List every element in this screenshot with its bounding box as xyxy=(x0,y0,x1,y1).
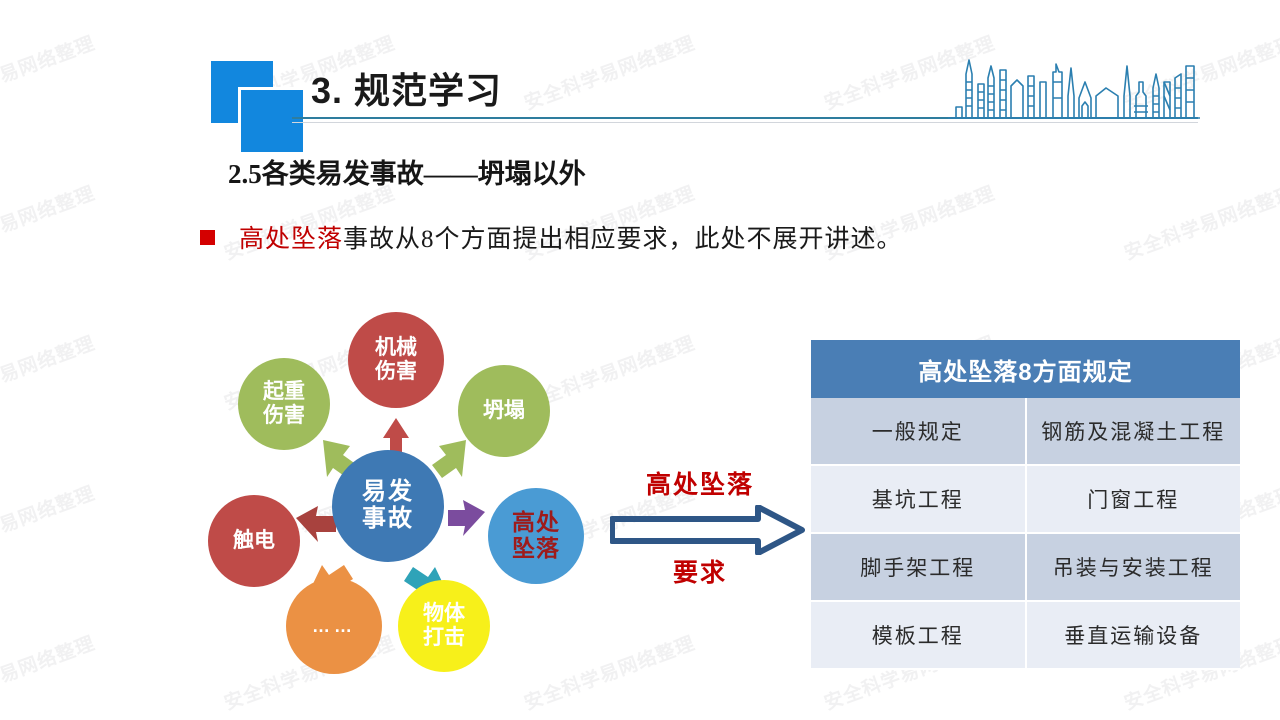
arrow-upper-right-icon xyxy=(432,440,466,478)
right-arrow-icon xyxy=(610,505,805,555)
watermark-text: 安全科学易网络整理 xyxy=(0,178,98,265)
table-cell-left: 一般规定 xyxy=(811,398,1026,465)
diagram-node-object-strike[interactable]: 物体 打击 xyxy=(398,580,490,672)
table-cell-left: 基坑工程 xyxy=(811,465,1026,533)
arrow-left-icon xyxy=(296,506,336,542)
table-cell-left: 脚手架工程 xyxy=(811,533,1026,601)
watermark-text: 安全科学易网络整理 xyxy=(1120,178,1280,265)
table-row: 脚手架工程 吊装与安装工程 xyxy=(811,533,1240,601)
table-row: 基坑工程 门窗工程 xyxy=(811,465,1240,533)
arrow-right-icon xyxy=(448,500,485,536)
table-row: 模板工程 垂直运输设备 xyxy=(811,601,1240,669)
table-cell-right: 钢筋及混凝土工程 xyxy=(1026,398,1241,465)
center-line-2: 事故 xyxy=(362,505,414,532)
accident-types-diagram: 易发 事故 机械 伤害 起重 伤害 坍塌 触电 高处 坠落 …… 物体 打击 xyxy=(200,290,620,680)
node-line-2: 坠落 xyxy=(512,535,560,561)
node-line-1: 坍塌 xyxy=(483,399,525,423)
bullet-row: 高处坠落事故从8个方面提出相应要求，此处不展开讲述。 xyxy=(200,219,903,255)
table-cell-right: 吊装与安装工程 xyxy=(1026,533,1241,601)
table-header-cell: 高处坠落8方面规定 xyxy=(811,340,1240,398)
process-arrow-top-label: 高处坠落 xyxy=(600,465,800,501)
bullet-highlight: 高处坠落 xyxy=(239,226,343,253)
logo-square-front xyxy=(238,87,303,152)
diagram-node-electric-shock[interactable]: 触电 xyxy=(208,495,300,587)
table-row: 一般规定 钢筋及混凝土工程 xyxy=(811,398,1240,465)
bullet-rest: 事故从8个方面提出相应要求，此处不展开讲述。 xyxy=(343,226,903,253)
node-line-1: 起重 xyxy=(263,380,305,403)
title-divider-secondary xyxy=(292,122,1198,123)
node-line-1: …… xyxy=(312,616,356,636)
table-cell-right: 门窗工程 xyxy=(1026,465,1241,533)
table-header-row: 高处坠落8方面规定 xyxy=(811,340,1240,398)
node-line-1: 机械 xyxy=(375,336,417,359)
node-line-2: 打击 xyxy=(423,626,465,649)
diagram-node-center[interactable]: 易发 事故 xyxy=(332,450,444,562)
diagram-node-mechanical-injury[interactable]: 机械 伤害 xyxy=(348,312,444,408)
node-line-2: 伤害 xyxy=(375,360,417,383)
slide-header: 3. 规范学习 xyxy=(0,0,1280,150)
node-line-1: 高处 xyxy=(512,509,560,535)
page-title: 3. 规范学习 xyxy=(311,62,502,114)
requirements-table: 高处坠落8方面规定 一般规定 钢筋及混凝土工程 基坑工程 门窗工程 脚手架工程 … xyxy=(811,340,1240,655)
table-cell-right: 垂直运输设备 xyxy=(1026,601,1241,669)
city-skyline-icon xyxy=(948,52,1200,122)
bullet-marker-icon xyxy=(200,230,215,245)
watermark-text: 安全科学易网络整理 xyxy=(0,478,98,565)
bullet-text: 高处坠落事故从8个方面提出相应要求，此处不展开讲述。 xyxy=(239,219,903,255)
process-arrow-bottom-label: 要求 xyxy=(600,553,800,589)
diagram-node-collapse[interactable]: 坍塌 xyxy=(458,365,550,457)
watermark-text: 安全科学易网络整理 xyxy=(0,628,98,715)
center-line-1: 易发 xyxy=(362,478,414,505)
process-arrow-group: 高处坠落 要求 xyxy=(600,465,810,595)
diagram-node-fall-from-height[interactable]: 高处 坠落 xyxy=(488,488,584,584)
node-line-1: 触电 xyxy=(233,529,275,553)
node-line-1: 物体 xyxy=(423,602,465,625)
node-line-2: 伤害 xyxy=(263,404,305,427)
table-cell-left: 模板工程 xyxy=(811,601,1026,669)
diagram-node-lifting-injury[interactable]: 起重 伤害 xyxy=(238,358,330,450)
section-subtitle: 2.5各类易发事故——坍塌以外 xyxy=(228,152,586,191)
watermark-text: 安全科学易网络整理 xyxy=(0,328,98,415)
diagram-node-others[interactable]: …… xyxy=(286,578,382,674)
